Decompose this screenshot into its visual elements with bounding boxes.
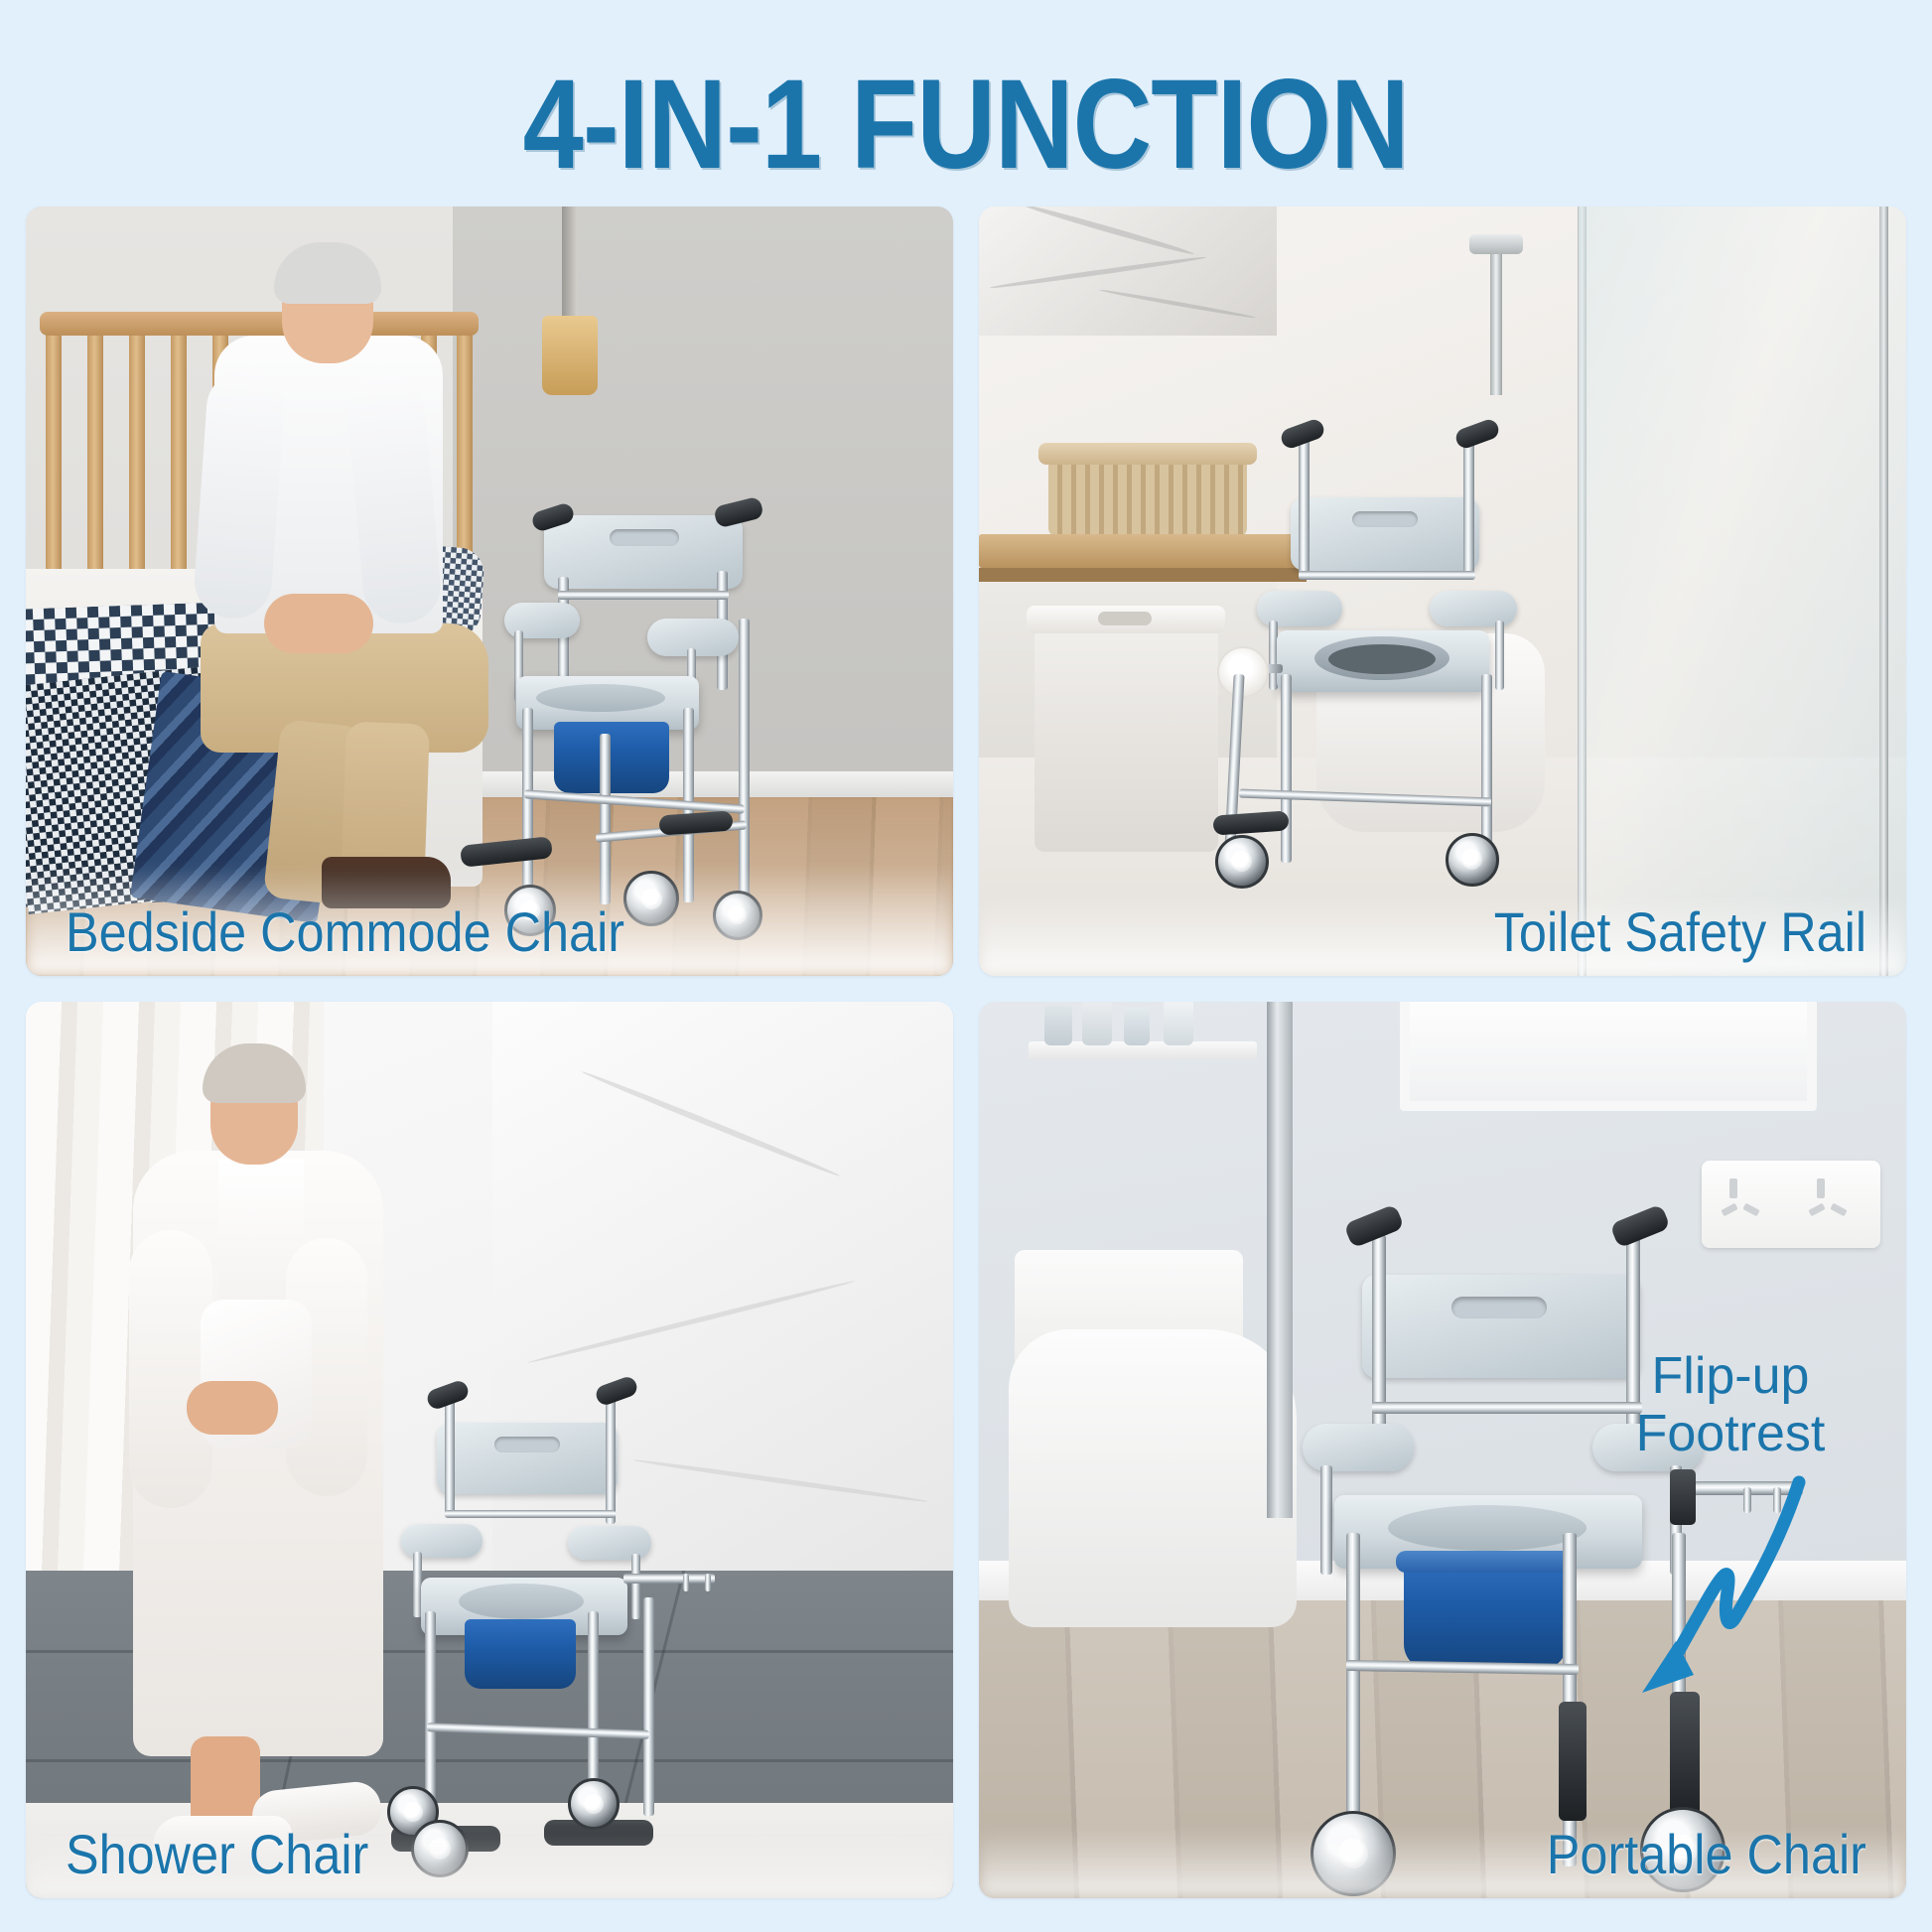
- scene-bedroom: [26, 207, 953, 976]
- panel-caption: Toilet Safety Rail: [1494, 903, 1866, 962]
- scene-bathroom-toilet: [979, 207, 1906, 976]
- wicker-basket: [1048, 455, 1247, 536]
- panel-portable-chair[interactable]: Flip-up Footrest Portable Chair: [979, 1002, 1906, 1898]
- shower-chair: [393, 1399, 721, 1898]
- shower-head: [1469, 234, 1523, 254]
- flip-up-footrest-annotation: Flip-up Footrest: [1577, 1347, 1884, 1462]
- window: [1400, 1002, 1817, 1111]
- panel-toilet-safety-rail[interactable]: Toilet Safety Rail: [979, 207, 1906, 976]
- commode-chair: [1229, 440, 1557, 916]
- panel-caption: Shower Chair: [66, 1826, 368, 1884]
- annotation-arrow-icon: [1632, 1468, 1870, 1707]
- panel-bedside-commode-chair[interactable]: Bedside Commode Chair: [26, 207, 953, 976]
- panel-shower-chair[interactable]: Shower Chair: [26, 1002, 953, 1898]
- annotation-line-2: Footrest: [1577, 1405, 1884, 1462]
- panel-caption: Bedside Commode Chair: [66, 903, 624, 962]
- panel-caption: Portable Chair: [1547, 1826, 1866, 1884]
- toilet: [1009, 1329, 1297, 1627]
- scene-bathroom-portable: Flip-up Footrest: [979, 1002, 1906, 1898]
- marble-wall: [979, 207, 1277, 336]
- trash-bin: [1035, 623, 1218, 852]
- shower-riser: [1490, 246, 1502, 395]
- page-title: 4-IN-1 FUNCTION: [523, 62, 1409, 189]
- feature-grid: Bedside Commode Chair: [26, 207, 1906, 1906]
- annotation-line-1: Flip-up: [1577, 1347, 1884, 1405]
- scene-shower-room: [26, 1002, 953, 1898]
- page-title-bar: 4-IN-1 FUNCTION: [0, 62, 1932, 189]
- glass-shower-screen: [1579, 207, 1906, 976]
